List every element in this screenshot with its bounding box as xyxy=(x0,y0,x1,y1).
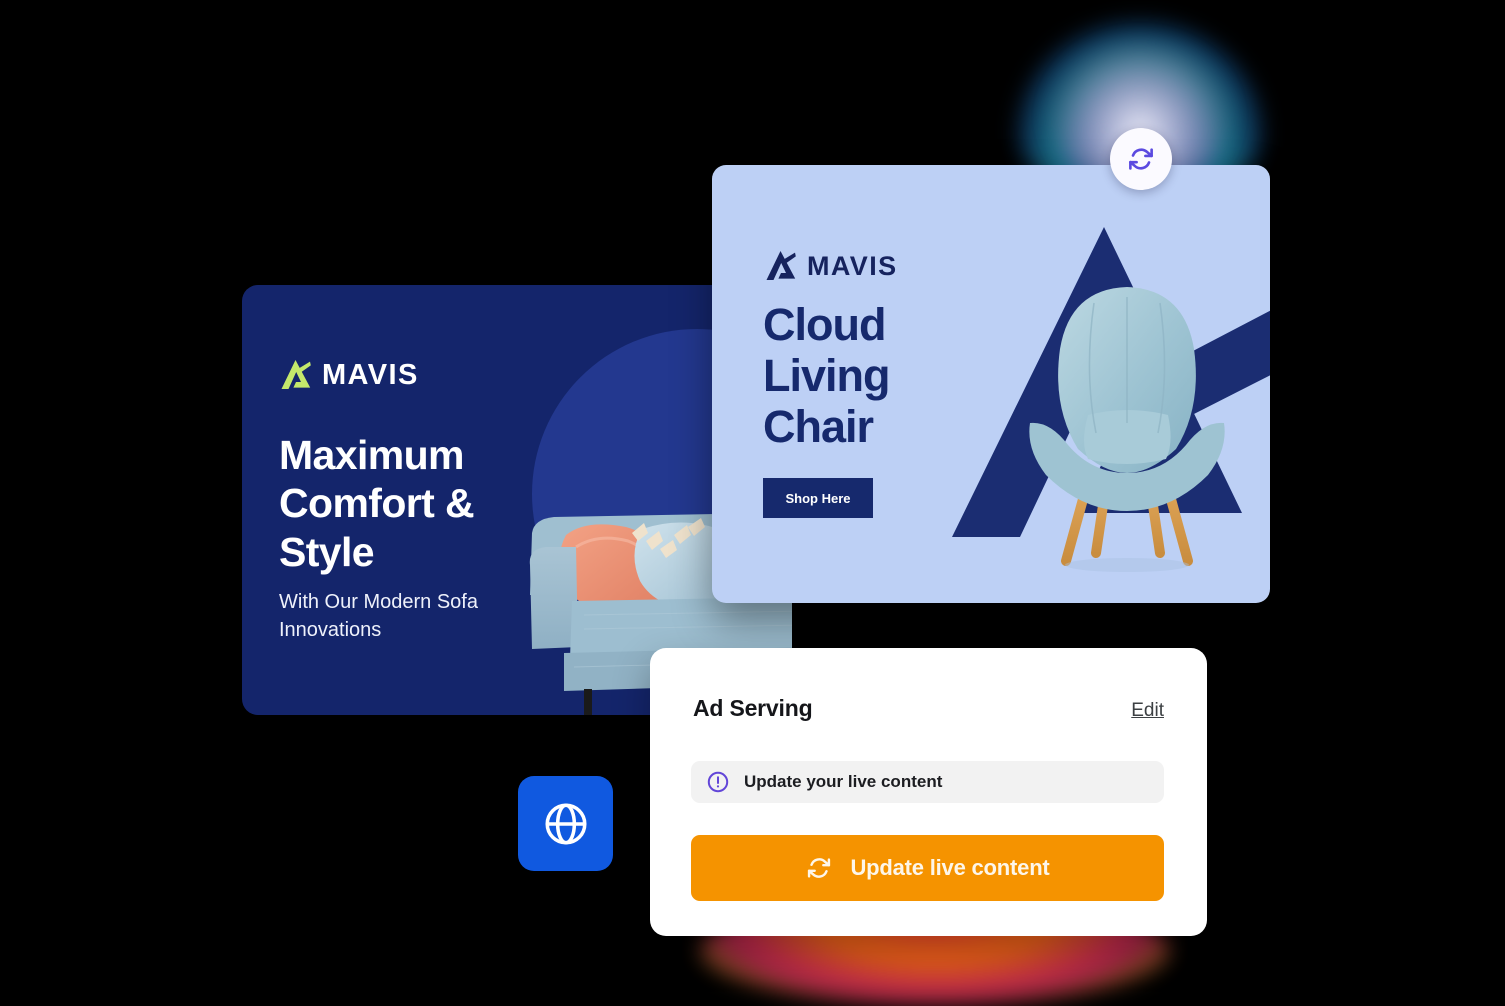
sync-status-badge[interactable] xyxy=(1110,128,1172,190)
update-live-content-button[interactable]: Update live content xyxy=(691,835,1164,901)
brand-wordmark: MAVIS xyxy=(322,361,419,390)
refresh-icon xyxy=(805,854,833,882)
globe-icon xyxy=(541,799,591,849)
panel-header: Ad Serving Edit xyxy=(693,695,1164,722)
promo-card-light[interactable]: MAVIS Cloud Living Chair Shop Here xyxy=(712,165,1270,603)
composition-stage: MAVIS Maximum Comfort & Style With Our M… xyxy=(0,0,1505,1006)
panel-title: Ad Serving xyxy=(693,695,812,722)
brand-wordmark: MAVIS xyxy=(807,253,898,280)
edit-link[interactable]: Edit xyxy=(1131,700,1164,722)
globe-tile-button[interactable] xyxy=(518,776,613,871)
armchair-image xyxy=(1022,273,1232,573)
update-button-label: Update live content xyxy=(850,855,1049,881)
shop-here-button[interactable]: Shop Here xyxy=(763,478,873,518)
alert-text: Update your live content xyxy=(744,772,942,792)
mavis-a-logo-icon xyxy=(279,358,313,392)
mavis-a-logo-icon xyxy=(764,249,798,283)
sync-refresh-icon xyxy=(1126,144,1156,174)
live-content-alert: Update your live content xyxy=(691,761,1164,803)
alert-circle-icon xyxy=(706,770,730,794)
brand-logo-dark: MAVIS xyxy=(279,358,419,392)
ad-serving-panel: Ad Serving Edit Update your live content… xyxy=(650,648,1207,936)
promo-headline-light: Cloud Living Chair xyxy=(763,300,1003,453)
brand-logo-light: MAVIS xyxy=(764,249,898,283)
